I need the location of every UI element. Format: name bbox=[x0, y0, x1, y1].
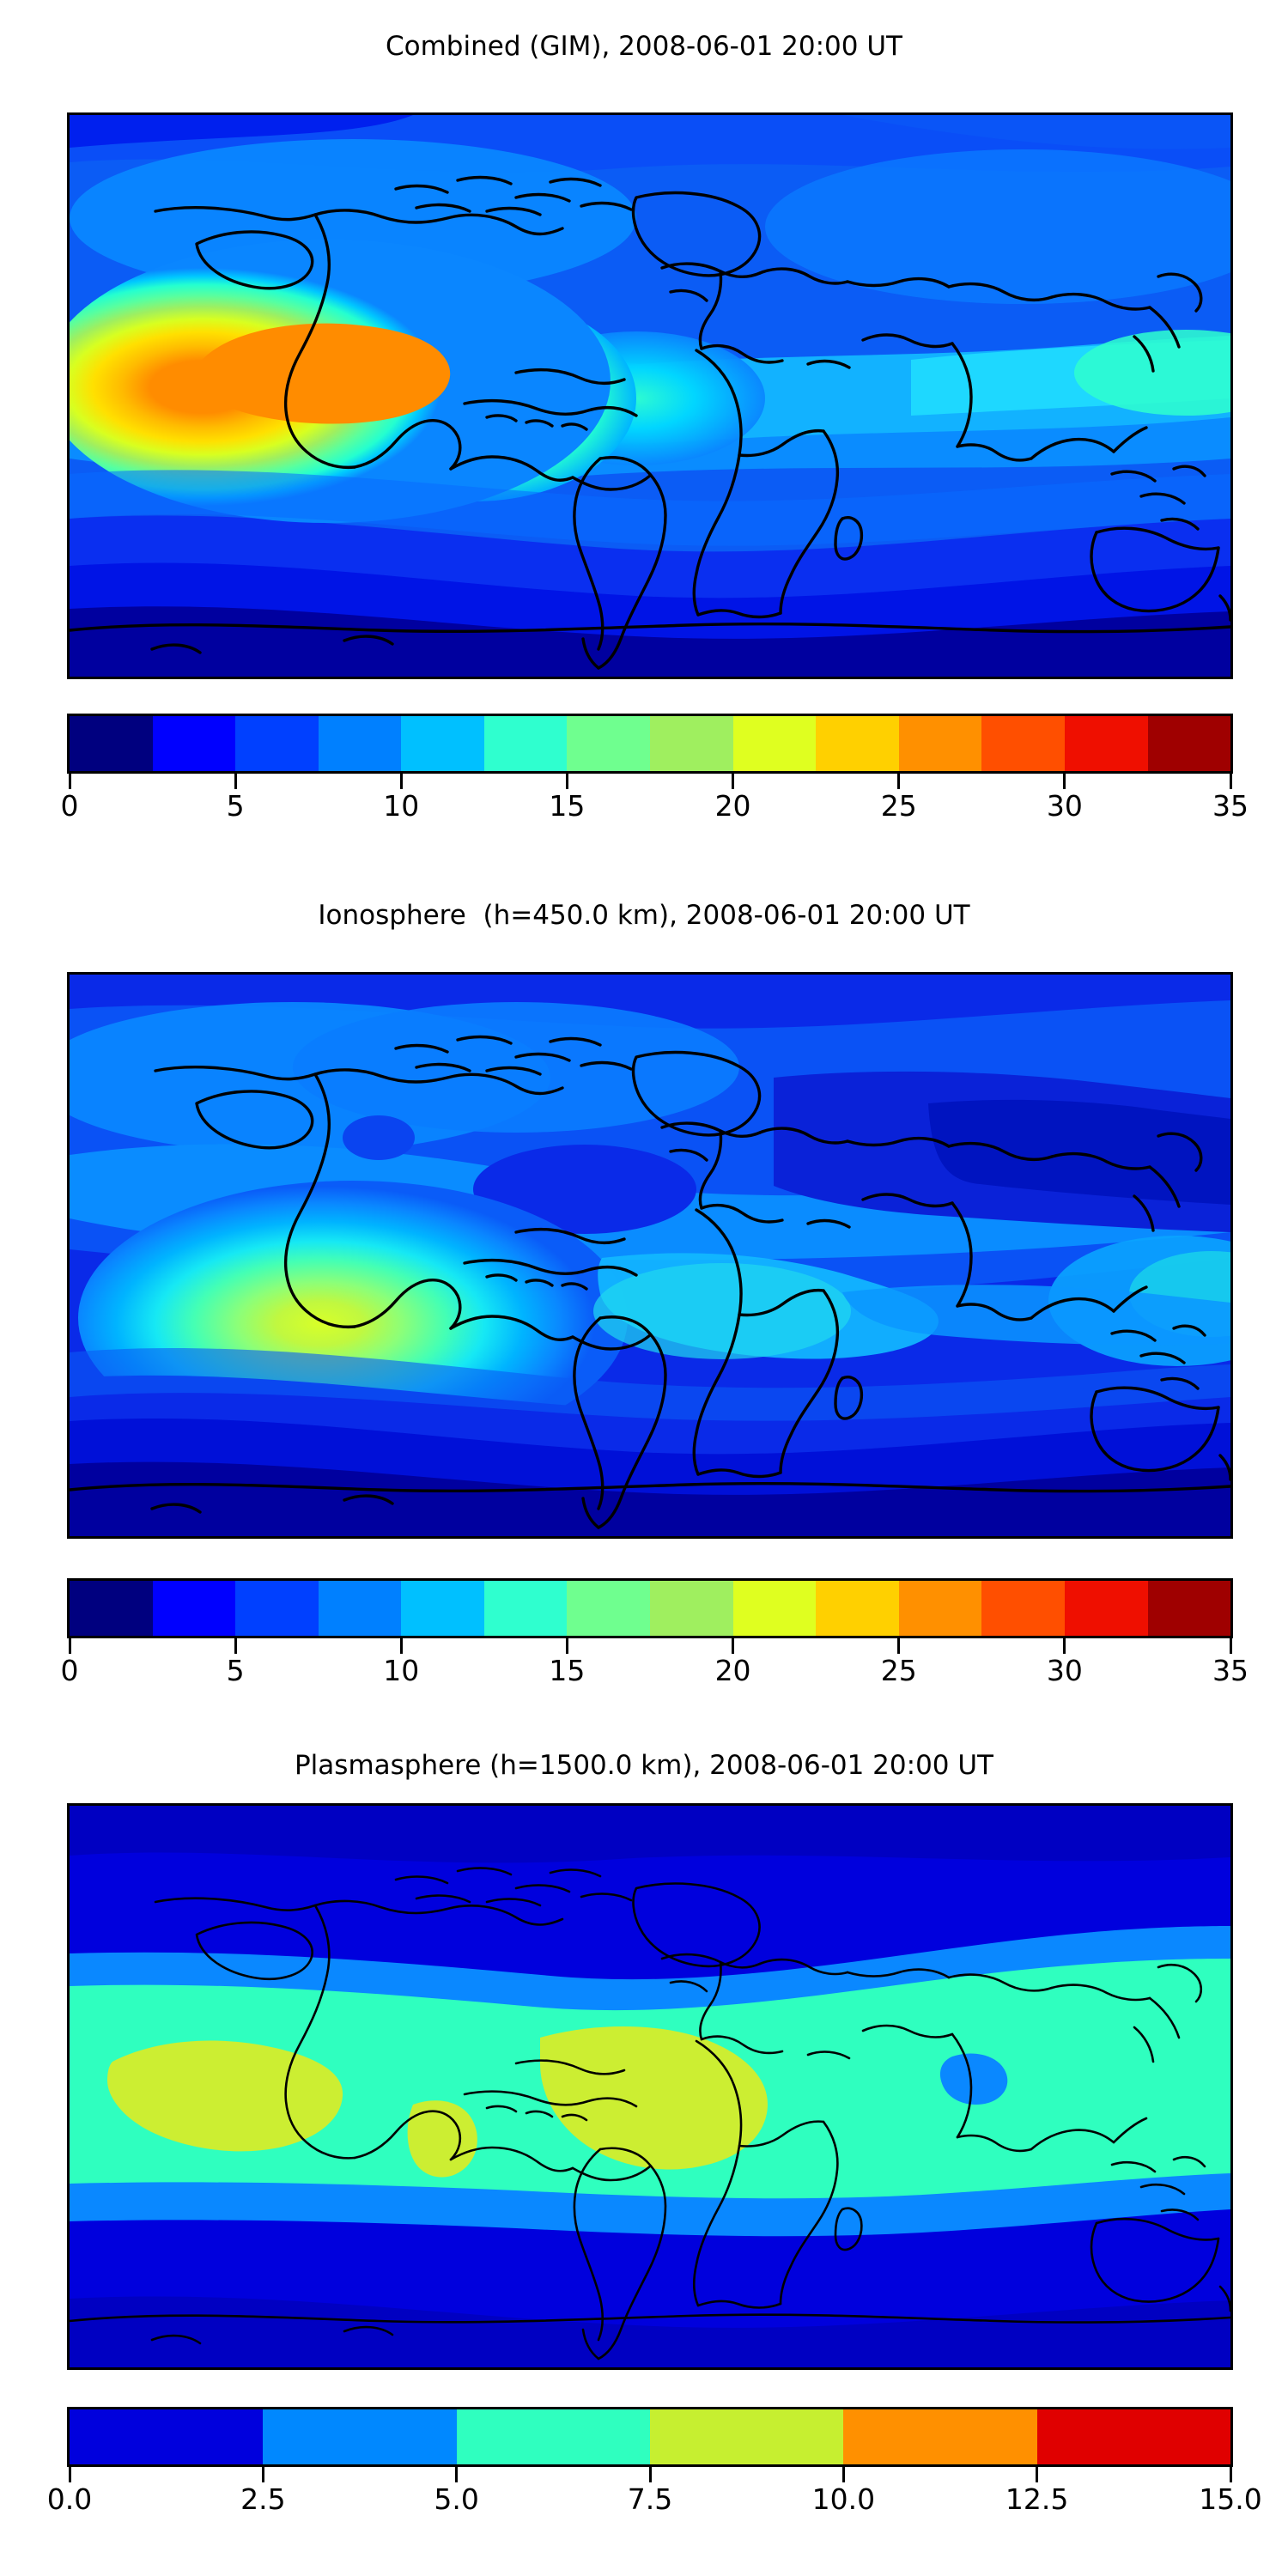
colorbar-segment bbox=[70, 716, 153, 771]
colorbar-tick-label: 0 bbox=[61, 789, 79, 823]
colorbar-plasmasphere-bar bbox=[67, 2407, 1233, 2467]
colorbar-tick-label: 0.0 bbox=[47, 2482, 92, 2516]
colorbar-tick-label: 10 bbox=[383, 1654, 419, 1687]
colorbar-segment bbox=[457, 2409, 650, 2464]
panel-combined-gim: Combined (GIM), 2008-06-01 20:00 UT bbox=[0, 0, 1288, 859]
colorbar-tick-label: 30 bbox=[1047, 1654, 1083, 1687]
colorbar-segment bbox=[70, 1581, 153, 1636]
colorbar-ionosphere: 05101520253035 bbox=[67, 1578, 1228, 1692]
colorbar-segment bbox=[1148, 1581, 1231, 1636]
colorbar-tick bbox=[262, 2467, 264, 2482]
colorbar-tick bbox=[69, 2467, 71, 2482]
colorbar-tick bbox=[234, 774, 237, 789]
colorbar-tick-label: 2.5 bbox=[240, 2482, 285, 2516]
colorbar-tick-label: 10.0 bbox=[812, 2482, 875, 2516]
colorbar-tick-label: 25 bbox=[881, 1654, 917, 1687]
colorbar-tick-label: 15 bbox=[549, 1654, 585, 1687]
colorbar-tick bbox=[69, 1638, 71, 1654]
colorbar-tick-label: 15.0 bbox=[1199, 2482, 1261, 2516]
colorbar-tick-label: 7.5 bbox=[628, 2482, 672, 2516]
contour-layer-combined bbox=[70, 115, 1230, 677]
colorbar-combined-ticks bbox=[67, 774, 1233, 789]
colorbar-segment bbox=[484, 1581, 568, 1636]
panel-ionosphere-450: Ionosphere (h=450.0 km), 2008-06-01 20:0… bbox=[0, 859, 1288, 1726]
colorbar-segment bbox=[981, 716, 1065, 771]
map-contour-area-plasmasphere bbox=[70, 1806, 1230, 2367]
colorbar-tick-label: 30 bbox=[1047, 789, 1083, 823]
contour-layer-plasmasphere bbox=[70, 1806, 1230, 2367]
colorbar-tick bbox=[455, 2467, 458, 2482]
colorbar-segment bbox=[567, 716, 650, 771]
colorbar-tick bbox=[1230, 2467, 1232, 2482]
colorbar-segment bbox=[733, 1581, 817, 1636]
colorbar-segment bbox=[650, 2409, 843, 2464]
colorbar-tick bbox=[1063, 1638, 1066, 1654]
colorbar-segment bbox=[816, 1581, 899, 1636]
colorbar-plasmasphere-ticklabels: 0.02.55.07.510.012.515.0 bbox=[67, 2482, 1233, 2520]
colorbar-segment bbox=[263, 2409, 456, 2464]
map-plasmasphere-1500 bbox=[67, 1803, 1233, 2370]
colorbar-segment bbox=[1065, 1581, 1148, 1636]
colorbar-segment bbox=[899, 716, 982, 771]
colorbar-tick bbox=[1230, 774, 1232, 789]
colorbar-tick-label: 35 bbox=[1212, 789, 1249, 823]
colorbar-segment bbox=[733, 716, 817, 771]
colorbar-tick bbox=[234, 1638, 237, 1654]
colorbar-segment bbox=[1148, 716, 1231, 771]
colorbar-segment bbox=[153, 1581, 236, 1636]
colorbar-tick-label: 5 bbox=[227, 789, 245, 823]
colorbar-tick bbox=[69, 774, 71, 789]
colorbar-tick-label: 35 bbox=[1212, 1654, 1249, 1687]
colorbar-tick bbox=[842, 2467, 845, 2482]
figure-canvas: Combined (GIM), 2008-06-01 20:00 UT bbox=[0, 0, 1288, 2576]
colorbar-segment bbox=[843, 2409, 1036, 2464]
colorbar-segment bbox=[484, 716, 568, 771]
colorbar-segment bbox=[70, 2409, 263, 2464]
colorbar-combined-ticklabels: 05101520253035 bbox=[67, 789, 1233, 827]
colorbar-tick bbox=[897, 774, 900, 789]
colorbar-combined-bar bbox=[67, 714, 1233, 774]
colorbar-tick bbox=[897, 1638, 900, 1654]
colorbar-tick bbox=[400, 1638, 403, 1654]
colorbar-tick bbox=[649, 2467, 652, 2482]
colorbar-tick-label: 20 bbox=[715, 789, 751, 823]
colorbar-tick bbox=[1063, 774, 1066, 789]
colorbar-ionosphere-ticklabels: 05101520253035 bbox=[67, 1654, 1233, 1692]
colorbar-tick bbox=[1230, 1638, 1232, 1654]
colorbar-ionosphere-bar bbox=[67, 1578, 1233, 1638]
colorbar-tick-label: 15 bbox=[549, 789, 585, 823]
colorbar-segment bbox=[235, 1581, 319, 1636]
colorbar-segment bbox=[235, 716, 319, 771]
colorbar-combined: 05101520253035 bbox=[67, 714, 1228, 827]
colorbar-tick bbox=[732, 774, 734, 789]
colorbar-segment bbox=[401, 1581, 484, 1636]
colorbar-segment bbox=[650, 1581, 733, 1636]
colorbar-segment bbox=[1065, 716, 1148, 771]
colorbar-segment bbox=[401, 716, 484, 771]
colorbar-tick bbox=[566, 774, 568, 789]
colorbar-segment bbox=[567, 1581, 650, 1636]
panel-title-ionosphere: Ionosphere (h=450.0 km), 2008-06-01 20:0… bbox=[0, 900, 1288, 931]
colorbar-ionosphere-ticks bbox=[67, 1638, 1233, 1654]
colorbar-segment bbox=[153, 716, 236, 771]
contour-layer-ionosphere bbox=[70, 975, 1230, 1536]
colorbar-tick-label: 10 bbox=[383, 789, 419, 823]
colorbar-segment bbox=[899, 1581, 982, 1636]
panel-title-plasmasphere: Plasmasphere (h=1500.0 km), 2008-06-01 2… bbox=[0, 1750, 1288, 1781]
colorbar-tick bbox=[566, 1638, 568, 1654]
colorbar-plasmasphere: 0.02.55.07.510.012.515.0 bbox=[67, 2407, 1228, 2520]
colorbar-tick bbox=[400, 774, 403, 789]
colorbar-tick bbox=[732, 1638, 734, 1654]
colorbar-segment bbox=[981, 1581, 1065, 1636]
colorbar-tick-label: 0 bbox=[61, 1654, 79, 1687]
colorbar-tick bbox=[1036, 2467, 1038, 2482]
colorbar-tick-label: 5.0 bbox=[434, 2482, 478, 2516]
colorbar-plasmasphere-ticks bbox=[67, 2467, 1233, 2482]
colorbar-segment bbox=[319, 1581, 402, 1636]
colorbar-tick-label: 20 bbox=[715, 1654, 751, 1687]
colorbar-segment bbox=[319, 716, 402, 771]
map-contour-area-combined bbox=[70, 115, 1230, 677]
panel-plasmasphere-1500: Plasmasphere (h=1500.0 km), 2008-06-01 2… bbox=[0, 1726, 1288, 2576]
colorbar-tick-label: 25 bbox=[881, 789, 917, 823]
map-contour-area-ionosphere bbox=[70, 975, 1230, 1536]
map-combined-gim bbox=[67, 112, 1233, 679]
map-ionosphere-450 bbox=[67, 972, 1233, 1539]
colorbar-segment bbox=[816, 716, 899, 771]
colorbar-tick-label: 5 bbox=[227, 1654, 245, 1687]
colorbar-segment bbox=[650, 716, 733, 771]
colorbar-tick-label: 12.5 bbox=[1005, 2482, 1068, 2516]
panel-title-combined: Combined (GIM), 2008-06-01 20:00 UT bbox=[0, 31, 1288, 62]
colorbar-segment bbox=[1037, 2409, 1230, 2464]
